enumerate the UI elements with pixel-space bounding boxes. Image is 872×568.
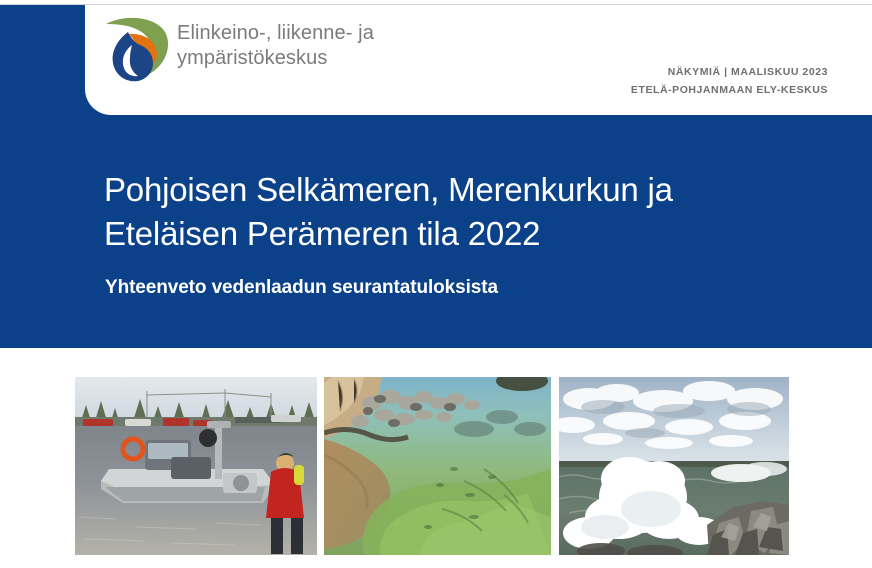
hero-banner: Elinkeino-, liikenne- ja ympäristökeskus… [0,5,872,348]
photo-strip [0,348,872,568]
report-cover-page: Elinkeino-, liikenne- ja ympäristökeskus… [0,0,872,568]
logo-wordmark: Elinkeino-, liikenne- ja ympäristökeskus [177,21,437,71]
logo-plate: Elinkeino-, liikenne- ja ympäristökeskus… [85,5,872,115]
page-title-line-1: Pohjoisen Selkämeren, Merenkurkun ja [104,168,804,212]
research-boat-at-harbour-photo [75,377,317,555]
logo-wordmark-line-2: ympäristökeskus [177,46,437,71]
logo-wordmark-line-1: Elinkeino-, liikenne- ja [177,21,437,46]
page-title-line-2: Eteläisen Perämeren tila 2022 [104,212,804,256]
header-meta: NÄKYMIÄ | MAALISKUU 2023 ETELÄ-POHJANMAA… [631,63,828,99]
page-title: Pohjoisen Selkämeren, Merenkurkun ja Ete… [104,168,804,256]
header-meta-line-2: ETELÄ-POHJANMAAN ELY-KESKUS [631,81,828,99]
ely-leaf-logo-icon [99,11,173,87]
algae-bloom-shoreline-photo [324,377,551,555]
breaking-waves-on-rocks-photo [559,377,789,555]
page-subtitle: Yhteenveto vedenlaadun seurantatuloksist… [105,277,498,299]
header-meta-line-1: NÄKYMIÄ | MAALISKUU 2023 [631,63,828,81]
